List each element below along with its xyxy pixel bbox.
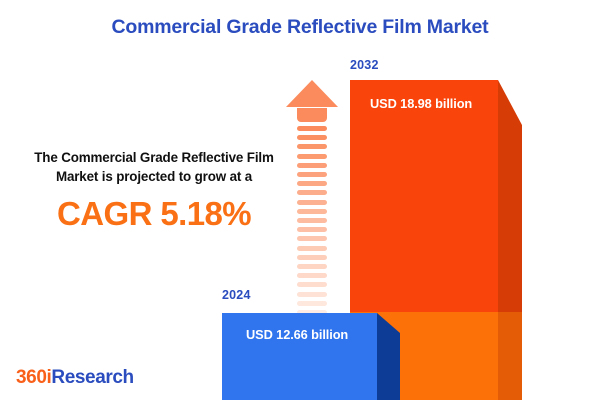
bar-2032-front-upper xyxy=(350,80,498,312)
arrow-stripe xyxy=(297,218,327,223)
arrow-stripe xyxy=(297,236,327,241)
arrow-stripe xyxy=(297,227,327,232)
brand-logo-suffix: Research xyxy=(51,367,133,388)
caption-block: The Commercial Grade Reflective Film Mar… xyxy=(14,148,294,233)
arrow-stripe xyxy=(297,301,327,306)
infographic-canvas: Commercial Grade Reflective Film Market … xyxy=(0,0,600,400)
arrow-stripe xyxy=(297,282,327,287)
arrow-neck xyxy=(297,108,327,122)
arrow-stripe xyxy=(297,144,327,149)
caption-text: The Commercial Grade Reflective Film Mar… xyxy=(14,148,294,186)
page-title: Commercial Grade Reflective Film Market xyxy=(0,16,600,39)
brand-logo: 360iResearch xyxy=(16,367,134,389)
bar-label-2032: 2032 xyxy=(350,58,379,72)
bar-label-2024: 2024 xyxy=(222,288,251,302)
bar-2024-side xyxy=(377,313,400,400)
arrow-stripe xyxy=(297,264,327,269)
bar-value-2024: USD 12.66 billion xyxy=(246,327,348,342)
arrow-stripe xyxy=(297,181,327,186)
arrow-stripe xyxy=(297,200,327,205)
arrow-stripe xyxy=(297,172,327,177)
brand-logo-prefix: 360i xyxy=(16,367,51,388)
arrow-stripe xyxy=(297,190,327,195)
arrow-stripe xyxy=(297,292,327,297)
arrow-stripe xyxy=(297,163,327,168)
cagr-value: CAGR 5.18% xyxy=(14,195,294,233)
arrow-stripe xyxy=(297,209,327,214)
arrow-stripe xyxy=(297,246,327,251)
arrow-stripe xyxy=(297,273,327,278)
bar-value-2032: USD 18.98 billion xyxy=(370,96,472,111)
arrow-stripe xyxy=(297,135,327,140)
arrow-stripe xyxy=(297,154,327,159)
bar-2032-side-lower xyxy=(498,312,522,400)
upward-arrow-icon xyxy=(286,80,338,290)
arrow-stripe xyxy=(297,126,327,131)
arrow-stripe xyxy=(297,255,327,260)
bar-2032-side-upper xyxy=(498,80,522,312)
